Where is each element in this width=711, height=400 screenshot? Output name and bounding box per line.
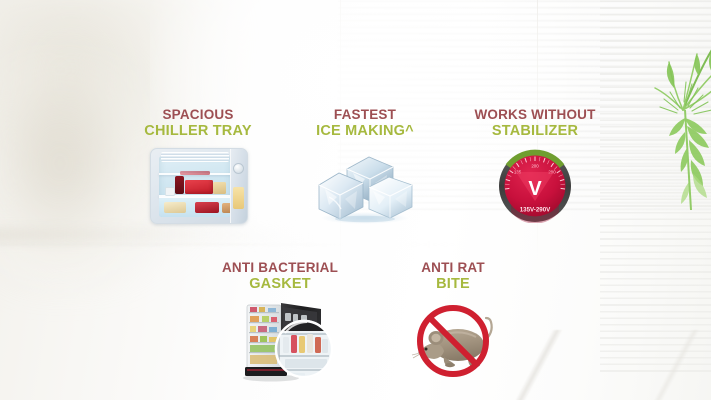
caption-bottom: GASKET	[216, 277, 344, 293]
ice-cubes-icon	[313, 147, 417, 225]
door-shelf-item	[233, 187, 244, 209]
upper-shelf-item	[180, 171, 210, 175]
voltage-gauge-image: 200 135 290 V 135V-290V	[498, 149, 572, 223]
caption-top: WORKS WITHOUT	[472, 108, 598, 123]
feature-caption: WORKS WITHOUT STABILIZER	[472, 108, 598, 139]
fridge-vents	[161, 152, 229, 162]
caption-top: SPACIOUS	[139, 108, 257, 123]
no-rat-prohibition-icon	[410, 301, 496, 381]
gauge-tick-200: 200	[531, 164, 539, 169]
background-floor-tiles	[330, 330, 711, 400]
gauge-range-label: 135V-290V	[520, 207, 551, 214]
feature-works-without-stabilizer: WORKS WITHOUT STABILIZER	[472, 108, 598, 223]
ice-cubes-image	[313, 147, 417, 225]
chiller-tray-drawer	[159, 197, 231, 217]
tray-item-left	[164, 202, 186, 213]
promo-feature-banner: SPACIOUS CHILLER TRAY	[0, 0, 711, 400]
food-pack-item	[213, 182, 226, 194]
fridge-compartment-graphic	[150, 148, 248, 224]
caption-top: ANTI BACTERIAL	[216, 261, 344, 276]
voltage-gauge-icon: 200 135 290 V 135V-290V	[498, 149, 572, 223]
meat-pack-item	[185, 180, 213, 194]
feature-anti-bacterial-gasket: ANTI BACTERIAL GASKET	[216, 261, 344, 383]
caption-bottom: CHILLER TRAY	[139, 124, 257, 140]
feature-fastest-ice-making: FASTEST ICE MAKING^	[306, 108, 424, 225]
feature-caption: FASTEST ICE MAKING^	[306, 108, 424, 139]
gauge-center-symbol: V	[528, 178, 542, 200]
no-rat-image	[410, 301, 496, 381]
fridge-door-panel	[230, 149, 247, 223]
fridge-knob	[233, 163, 244, 174]
gasket-fridge-image	[225, 299, 335, 383]
feature-caption: ANTI BACTERIAL GASKET	[216, 261, 344, 292]
feature-anti-rat-bite: ANTI RAT BITE	[398, 261, 508, 381]
feature-caption: ANTI RAT BITE	[398, 261, 508, 292]
bottle-item	[175, 176, 184, 194]
feature-caption: SPACIOUS CHILLER TRAY	[139, 108, 257, 139]
tray-item-center	[195, 202, 219, 213]
caption-top: ANTI RAT	[398, 261, 508, 276]
caption-top: FASTEST	[306, 108, 424, 123]
open-fridge-with-magnifier-icon	[225, 299, 335, 383]
background-left-wash-secondary	[0, 60, 150, 290]
palm-plant-icon	[605, 14, 711, 210]
feature-spacious-chiller-tray: SPACIOUS CHILLER TRAY	[139, 108, 257, 224]
chiller-tray-image	[150, 148, 246, 224]
small-box-item	[165, 187, 175, 196]
caption-bottom: BITE	[398, 277, 508, 293]
caption-bottom: ICE MAKING^	[306, 124, 424, 140]
caption-bottom: STABILIZER	[472, 124, 598, 140]
